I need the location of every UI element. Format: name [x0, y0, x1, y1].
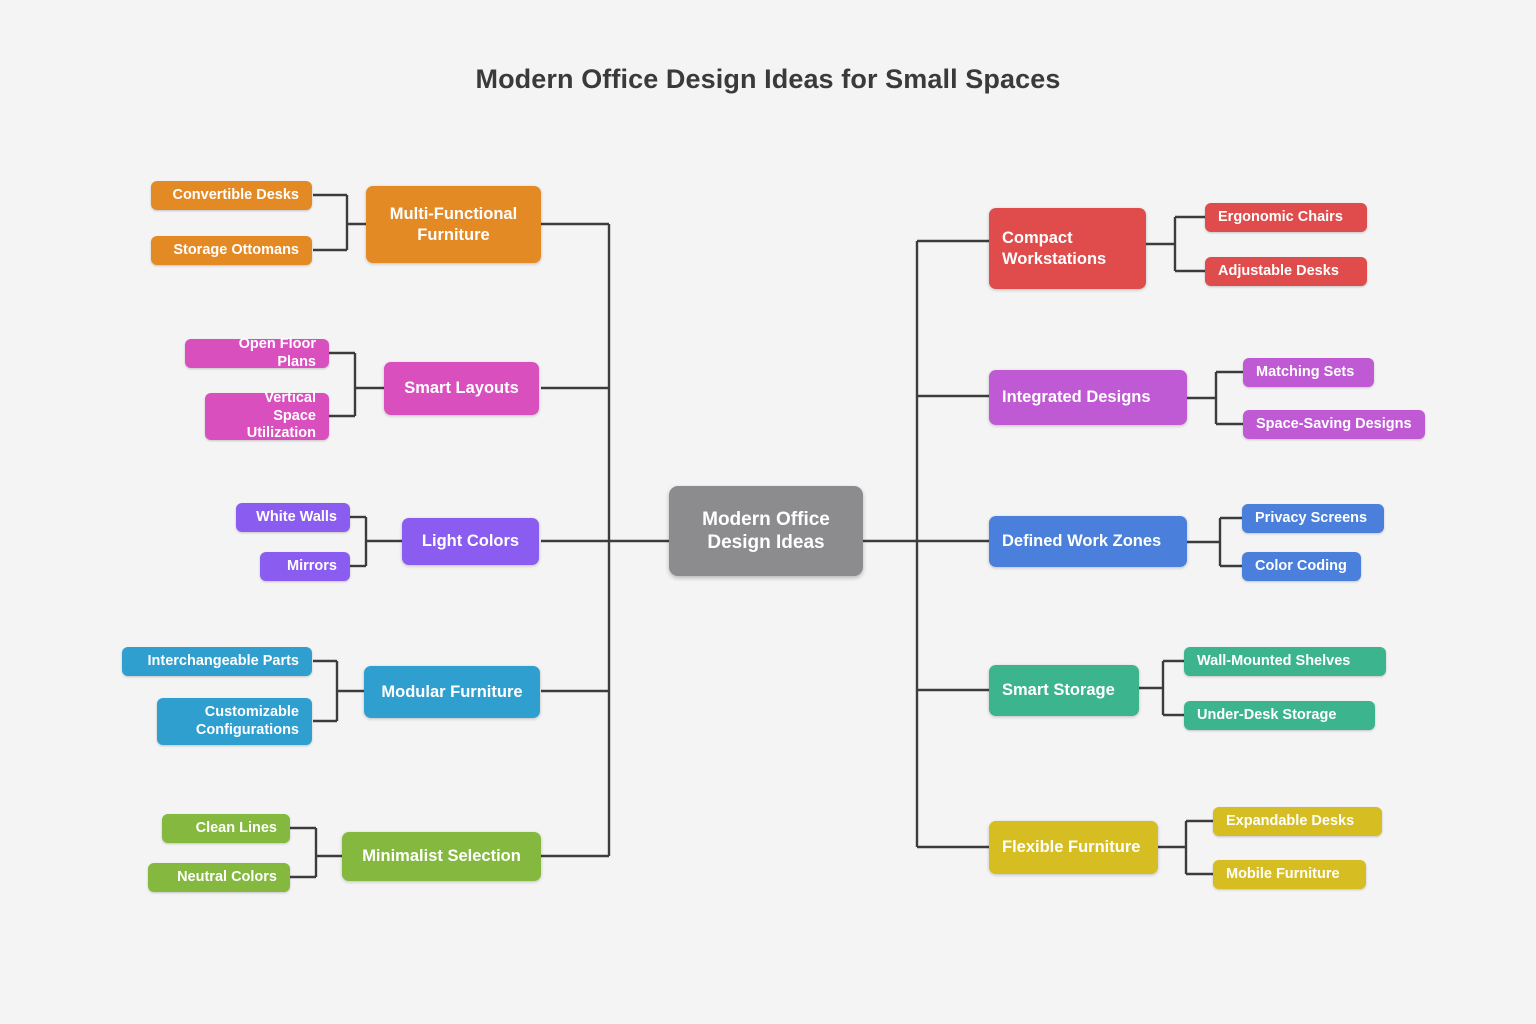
branch-node-label: Smart Storage: [1002, 680, 1115, 700]
leaf-node-matching-sets[interactable]: Matching Sets: [1243, 358, 1374, 387]
leaf-node-adjustable-desks[interactable]: Adjustable Desks: [1205, 257, 1367, 286]
leaf-node-label: Mobile Furniture: [1226, 866, 1340, 884]
branch-node-label: Integrated Designs: [1002, 387, 1151, 407]
branch-node-smart-storage[interactable]: Smart Storage: [989, 665, 1139, 716]
leaf-node-white-walls[interactable]: White Walls: [236, 503, 350, 532]
leaf-node-label: Clean Lines: [196, 820, 277, 838]
leaf-node-label: Adjustable Desks: [1218, 263, 1339, 281]
leaf-node-label: Customizable Configurations: [170, 704, 299, 739]
leaf-node-mirrors[interactable]: Mirrors: [260, 552, 350, 581]
leaf-node-label: Convertible Desks: [172, 187, 299, 205]
leaf-node-space-saving-designs[interactable]: Space-Saving Designs: [1243, 410, 1425, 439]
branch-node-label: Light Colors: [422, 531, 519, 551]
branch-node-label: Multi-Functional Furniture: [379, 204, 528, 244]
leaf-node-wall-mounted-shelves[interactable]: Wall-Mounted Shelves: [1184, 647, 1386, 676]
leaf-node-label: Open Floor Plans: [198, 336, 316, 371]
leaf-node-label: Space-Saving Designs: [1256, 416, 1412, 434]
leaf-node-label: Color Coding: [1255, 558, 1347, 576]
branch-node-smart-layouts[interactable]: Smart Layouts: [384, 362, 539, 415]
leaf-node-neutral-colors[interactable]: Neutral Colors: [148, 863, 290, 892]
leaf-node-label: Vertical Space Utilization: [218, 390, 316, 443]
leaf-node-color-coding[interactable]: Color Coding: [1242, 552, 1361, 581]
leaf-node-label: Neutral Colors: [177, 869, 277, 887]
leaf-node-label: Matching Sets: [1256, 364, 1354, 382]
leaf-node-vertical-space-utilization[interactable]: Vertical Space Utilization: [205, 393, 329, 440]
leaf-node-storage-ottomans[interactable]: Storage Ottomans: [151, 236, 312, 265]
leaf-node-ergonomic-chairs[interactable]: Ergonomic Chairs: [1205, 203, 1367, 232]
leaf-node-interchangeable-parts[interactable]: Interchangeable Parts: [122, 647, 312, 676]
branch-node-minimalist-selection[interactable]: Minimalist Selection: [342, 832, 541, 881]
leaf-node-label: Storage Ottomans: [173, 242, 299, 260]
branch-node-label: Compact Workstations: [1002, 228, 1133, 268]
leaf-node-clean-lines[interactable]: Clean Lines: [162, 814, 290, 843]
leaf-node-label: Expandable Desks: [1226, 813, 1354, 831]
branch-node-light-colors[interactable]: Light Colors: [402, 518, 539, 565]
root-node-label: Modern Office Design Ideas: [682, 508, 850, 554]
branch-node-label: Minimalist Selection: [362, 846, 521, 866]
leaf-node-label: Wall-Mounted Shelves: [1197, 653, 1350, 671]
leaf-node-label: Under-Desk Storage: [1197, 707, 1336, 725]
leaf-node-convertible-desks[interactable]: Convertible Desks: [151, 181, 312, 210]
branch-node-flexible-furniture[interactable]: Flexible Furniture: [989, 821, 1158, 874]
mindmap-canvas: Modern Office Design Ideas for Small Spa…: [0, 0, 1536, 1024]
leaf-node-label: Ergonomic Chairs: [1218, 209, 1343, 227]
leaf-node-mobile-furniture[interactable]: Mobile Furniture: [1213, 860, 1366, 889]
branch-node-label: Modular Furniture: [381, 682, 522, 702]
branch-node-label: Flexible Furniture: [1002, 837, 1140, 857]
leaf-node-expandable-desks[interactable]: Expandable Desks: [1213, 807, 1382, 836]
branch-node-modular-furniture[interactable]: Modular Furniture: [364, 666, 540, 718]
branch-node-defined-work-zones[interactable]: Defined Work Zones: [989, 516, 1187, 567]
page-title: Modern Office Design Ideas for Small Spa…: [0, 64, 1536, 95]
root-node-modern-office-design-ideas[interactable]: Modern Office Design Ideas: [669, 486, 863, 576]
leaf-node-open-floor-plans[interactable]: Open Floor Plans: [185, 339, 329, 368]
leaf-node-label: White Walls: [256, 509, 337, 527]
leaf-node-customizable-configurations[interactable]: Customizable Configurations: [157, 698, 312, 745]
leaf-node-privacy-screens[interactable]: Privacy Screens: [1242, 504, 1384, 533]
leaf-node-label: Interchangeable Parts: [148, 653, 300, 671]
branch-node-label: Defined Work Zones: [1002, 531, 1161, 551]
branch-node-integrated-designs[interactable]: Integrated Designs: [989, 370, 1187, 425]
branch-node-label: Smart Layouts: [404, 378, 519, 398]
branch-node-compact-workstations[interactable]: Compact Workstations: [989, 208, 1146, 289]
leaf-node-label: Mirrors: [287, 558, 337, 576]
branch-node-multi-functional-furniture[interactable]: Multi-Functional Furniture: [366, 186, 541, 263]
leaf-node-under-desk-storage[interactable]: Under-Desk Storage: [1184, 701, 1375, 730]
leaf-node-label: Privacy Screens: [1255, 510, 1367, 528]
